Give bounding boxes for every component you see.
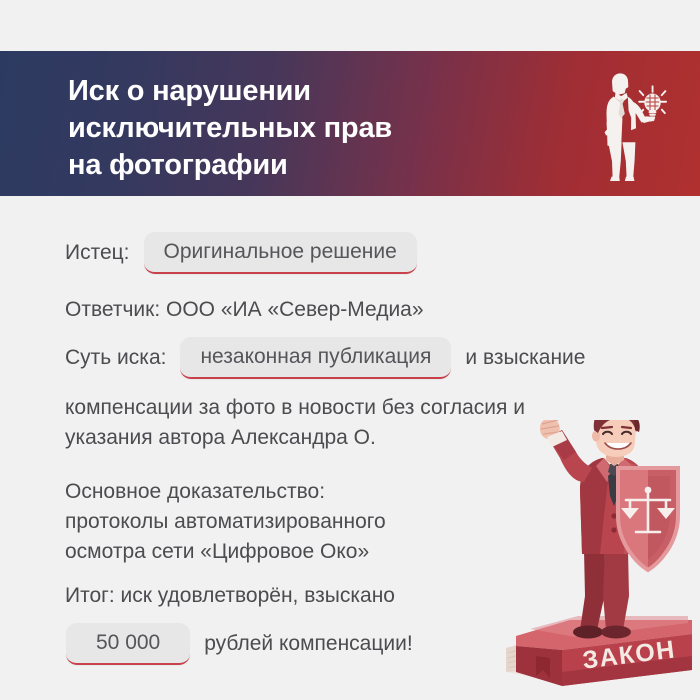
page-title-line-1: Иск о нарушении: [68, 73, 568, 110]
plaintiff-row: Истец: Оригинальное решение: [65, 232, 417, 274]
claim-continuation-line-1: компенсации за фото в новости без соглас…: [65, 394, 525, 422]
evidence-line-2: протоколы автоматизированного: [65, 508, 386, 536]
outcome-line: Итог: иск удовлетворён, взыскано: [65, 582, 395, 610]
plaintiff-value-pill[interactable]: Оригинальное решение: [144, 232, 417, 274]
amount-row: 50 000 рублей компенсации!: [66, 623, 413, 665]
claim-label: Суть иска:: [65, 346, 166, 370]
claim-row: Суть иска: незаконная публикация и взыск…: [65, 337, 585, 379]
claim-continuation-line-2: указания автора Александра О.: [65, 424, 376, 452]
businessman-with-lightbulb-icon: [582, 65, 674, 185]
page-title-line-3: на фотографии: [68, 147, 568, 184]
amount-tail-text: рублей компенсации!: [204, 632, 412, 656]
defendant-line: Ответчик: ООО «ИА «Север-Медиа»: [65, 296, 424, 324]
claim-tail-text: и взыскание: [465, 346, 585, 370]
page-title-line-2: исключительных прав: [68, 110, 568, 147]
claim-value-pill[interactable]: незаконная публикация: [180, 337, 451, 379]
lawyer-with-shield-on-law-book-illustration: ЗАКОН: [492, 420, 700, 692]
evidence-line-3: осмотра сети «Цифровое Око»: [65, 538, 369, 566]
plaintiff-label: Истец:: [65, 241, 130, 265]
header-banner: Иск о нарушении исключительных прав на ф…: [0, 51, 700, 196]
amount-pill[interactable]: 50 000: [66, 623, 190, 665]
infographic-card: Иск о нарушении исключительных прав на ф…: [0, 0, 700, 700]
evidence-line-1: Основное доказательство:: [65, 478, 325, 506]
page-title: Иск о нарушении исключительных прав на ф…: [68, 73, 568, 183]
